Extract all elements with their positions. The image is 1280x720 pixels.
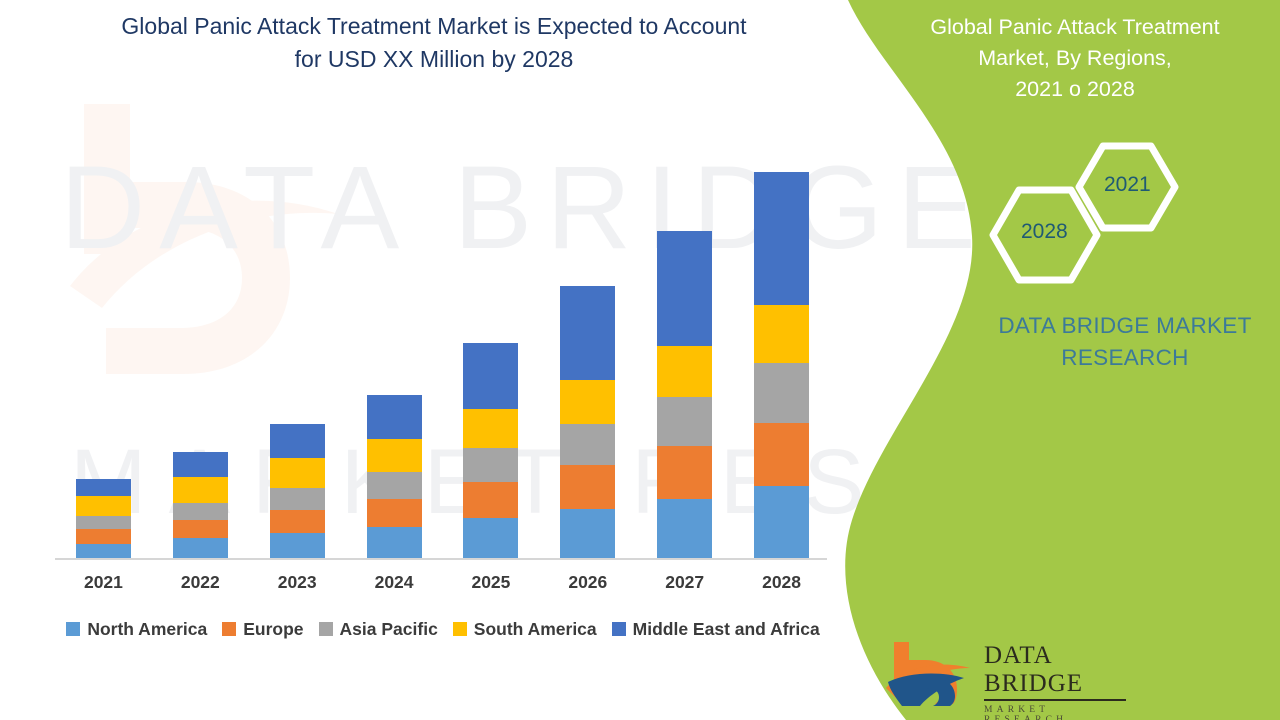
logo-name-bottom: MARKET RESEARCH bbox=[984, 705, 1126, 720]
bar-2025 bbox=[463, 343, 518, 560]
hexagon-group: 2021 2028 bbox=[975, 140, 1205, 290]
legend-swatch-icon bbox=[319, 622, 333, 636]
x-axis-label-2024: 2024 bbox=[349, 572, 439, 593]
bar-segment-2027-south-america bbox=[657, 346, 712, 397]
company-logo: DATA BRIDGE MARKET RESEARCH bbox=[884, 638, 1114, 708]
bar-segment-2021-europe bbox=[76, 529, 131, 543]
bar-segment-2024-europe bbox=[367, 499, 422, 528]
x-axis-label-2021: 2021 bbox=[58, 572, 148, 593]
legend-label: Europe bbox=[243, 619, 303, 640]
legend-swatch-icon bbox=[612, 622, 626, 636]
legend-item-europe[interactable]: Europe bbox=[222, 619, 303, 640]
x-axis-label-2028: 2028 bbox=[737, 572, 827, 593]
bar-segment-2026-south-america bbox=[560, 380, 615, 424]
bar-segment-2026-europe bbox=[560, 465, 615, 509]
bar-segment-2025-north-america bbox=[463, 518, 518, 560]
legend-item-north-america[interactable]: North America bbox=[66, 619, 207, 640]
bar-segment-2021-middle-east-and-africa bbox=[76, 479, 131, 496]
panel-title-line-2: Market, By Regions, bbox=[895, 43, 1255, 74]
panel-title: Global Panic Attack Treatment Market, By… bbox=[895, 12, 1255, 105]
bar-segment-2025-asia-pacific bbox=[463, 448, 518, 482]
panel-title-line-1: Global Panic Attack Treatment bbox=[895, 12, 1255, 43]
bar-2023 bbox=[270, 424, 325, 560]
bar-segment-2026-asia-pacific bbox=[560, 424, 615, 465]
panel-brand-line-1: DATA BRIDGE MARKET bbox=[945, 310, 1280, 342]
panel-brand-text: DATA BRIDGE MARKET RESEARCH bbox=[945, 310, 1280, 374]
legend-label: South America bbox=[474, 619, 597, 640]
chart-title-line-1: Global Panic Attack Treatment Market is … bbox=[34, 10, 834, 43]
legend-label: North America bbox=[87, 619, 207, 640]
legend-label: Asia Pacific bbox=[340, 619, 438, 640]
legend-label: Middle East and Africa bbox=[633, 619, 820, 640]
bar-2024 bbox=[367, 395, 422, 560]
bar-segment-2025-south-america bbox=[463, 409, 518, 448]
x-axis-label-2022: 2022 bbox=[155, 572, 245, 593]
bar-segment-2027-middle-east-and-africa bbox=[657, 231, 712, 346]
bar-2028 bbox=[754, 172, 809, 560]
hexagon-label-start: 2021 bbox=[1104, 173, 1151, 197]
page-title: Global Panic Attack Treatment Market is … bbox=[34, 10, 834, 76]
hexagon-shapes bbox=[975, 140, 1205, 290]
bar-segment-2024-middle-east-and-africa bbox=[367, 395, 422, 439]
bar-segment-2028-north-america bbox=[754, 486, 809, 560]
x-axis-label-2023: 2023 bbox=[252, 572, 342, 593]
x-axis-label-2026: 2026 bbox=[543, 572, 633, 593]
logo-wordmark: DATA BRIDGE MARKET RESEARCH bbox=[984, 642, 1126, 720]
bar-chart-plot-area bbox=[55, 150, 830, 560]
bar-segment-2024-asia-pacific bbox=[367, 472, 422, 499]
bar-segment-2027-europe bbox=[657, 446, 712, 498]
bar-segment-2022-middle-east-and-africa bbox=[173, 452, 228, 477]
bar-2027 bbox=[657, 231, 712, 560]
bar-segment-2021-south-america bbox=[76, 496, 131, 515]
chart-legend: North AmericaEuropeAsia PacificSouth Ame… bbox=[48, 615, 838, 643]
bar-segment-2025-europe bbox=[463, 482, 518, 518]
bar-segment-2021-asia-pacific bbox=[76, 516, 131, 529]
x-axis-label-2027: 2027 bbox=[640, 572, 730, 593]
x-axis-line bbox=[55, 558, 827, 560]
bar-segment-2028-south-america bbox=[754, 305, 809, 363]
bar-segment-2023-south-america bbox=[270, 458, 325, 489]
bar-segment-2023-north-america bbox=[270, 533, 325, 560]
bar-segment-2026-north-america bbox=[560, 509, 615, 560]
legend-swatch-icon bbox=[66, 622, 80, 636]
slide-canvas: DATA BRIDGE MARKET RESEARCH Global Panic… bbox=[0, 0, 1280, 720]
x-axis-label-2025: 2025 bbox=[446, 572, 536, 593]
bar-segment-2027-asia-pacific bbox=[657, 397, 712, 446]
chart-title-line-2: for USD XX Million by 2028 bbox=[34, 43, 834, 76]
bar-segment-2028-europe bbox=[754, 423, 809, 487]
legend-item-south-america[interactable]: South America bbox=[453, 619, 597, 640]
logo-name-top: DATA BRIDGE bbox=[984, 642, 1126, 698]
bar-segment-2028-asia-pacific bbox=[754, 363, 809, 422]
bar-segment-2024-south-america bbox=[367, 439, 422, 472]
bar-2022 bbox=[173, 452, 228, 560]
x-axis-tick-labels: 20212022202320242025202620272028 bbox=[55, 572, 830, 602]
bar-segment-2022-asia-pacific bbox=[173, 503, 228, 520]
bar-segment-2024-north-america bbox=[367, 527, 422, 560]
bar-segment-2023-asia-pacific bbox=[270, 488, 325, 510]
logo-divider bbox=[984, 699, 1126, 701]
bar-segment-2028-middle-east-and-africa bbox=[754, 172, 809, 305]
bar-segment-2027-north-america bbox=[657, 499, 712, 561]
bar-segment-2025-middle-east-and-africa bbox=[463, 343, 518, 410]
bar-segment-2023-middle-east-and-africa bbox=[270, 424, 325, 458]
bar-segment-2026-middle-east-and-africa bbox=[560, 286, 615, 379]
bar-segment-2023-europe bbox=[270, 510, 325, 534]
legend-swatch-icon bbox=[453, 622, 467, 636]
legend-swatch-icon bbox=[222, 622, 236, 636]
hexagon-label-end: 2028 bbox=[1021, 220, 1068, 244]
bar-segment-2022-north-america bbox=[173, 538, 228, 560]
panel-title-line-3: 2021 o 2028 bbox=[895, 74, 1255, 105]
legend-item-asia-pacific[interactable]: Asia Pacific bbox=[319, 619, 438, 640]
data-bridge-mark-icon bbox=[884, 638, 976, 706]
bar-segment-2022-south-america bbox=[173, 477, 228, 503]
bar-segment-2022-europe bbox=[173, 520, 228, 538]
legend-item-middle-east-and-africa[interactable]: Middle East and Africa bbox=[612, 619, 820, 640]
panel-brand-line-2: RESEARCH bbox=[945, 342, 1280, 374]
bar-2026 bbox=[560, 286, 615, 560]
bar-2021 bbox=[76, 479, 131, 560]
